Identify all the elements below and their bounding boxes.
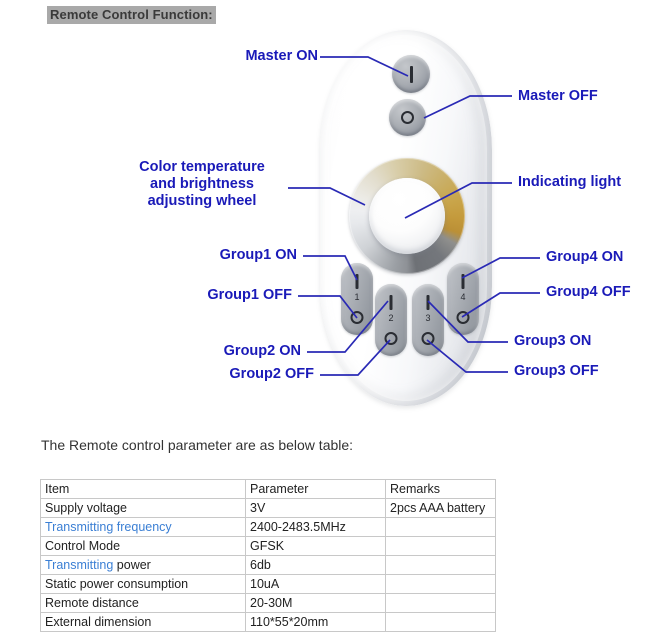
- table-intro-text: The Remote control parameter are as belo…: [41, 437, 353, 453]
- group4-off-glyph-icon: [457, 311, 470, 324]
- table-row: Supply voltage3V2pcs AAA battery: [41, 499, 496, 518]
- parameter-table: ItemParameterRemarksSupply voltage3V2pcs…: [40, 479, 496, 632]
- callout-group2-on: Group2 ON: [149, 343, 301, 360]
- table-cell-item: Control Mode: [41, 537, 246, 556]
- table-cell-item: Transmitting frequency: [41, 518, 246, 537]
- table-cell-remarks: [386, 518, 496, 537]
- color-temperature-brightness-wheel[interactable]: [349, 158, 465, 274]
- callout-group4-on: Group4 ON: [546, 249, 623, 266]
- callout-master-on: Master ON: [160, 48, 318, 65]
- callout-group3-on: Group3 ON: [514, 333, 591, 350]
- callout-master-off: Master OFF: [518, 88, 598, 105]
- callout-wheel-line-3: adjusting wheel: [148, 193, 257, 209]
- table-cell-parameter: 2400-2483.5MHz: [246, 518, 386, 537]
- group1-number-label: 1: [341, 292, 373, 302]
- table-cell-item: Transmitting power: [41, 556, 246, 575]
- group1-off-glyph-icon: [351, 311, 364, 324]
- master-off-glyph-icon: [401, 111, 414, 124]
- group-button-2[interactable]: 2: [375, 284, 407, 356]
- table-row: Transmitting power6db: [41, 556, 496, 575]
- callout-group3-off: Group3 OFF: [514, 363, 599, 380]
- callout-group2-off: Group2 OFF: [162, 366, 314, 383]
- remote-device-body: 1 2 3 4: [320, 30, 492, 406]
- table-cell-item-blue: Transmitting: [45, 558, 113, 572]
- table-header-row: ItemParameterRemarks: [41, 480, 496, 499]
- table-cell-item-plain: power: [113, 558, 151, 572]
- callout-wheel-line-1: Color temperature: [139, 159, 265, 175]
- table-cell-remarks: [386, 556, 496, 575]
- group3-on-glyph-icon: [427, 295, 430, 310]
- parameter-table-body: ItemParameterRemarksSupply voltage3V2pcs…: [41, 480, 496, 632]
- table-row: Static power consumption10uA: [41, 575, 496, 594]
- group-button-1[interactable]: 1: [341, 263, 373, 335]
- master-off-button[interactable]: [389, 99, 426, 136]
- table-cell-parameter: 3V: [246, 499, 386, 518]
- table-row: External dimension110*55*20mm: [41, 613, 496, 632]
- master-on-button[interactable]: [392, 55, 430, 93]
- table-header-cell: Remarks: [386, 480, 496, 499]
- table-cell-remarks: 2pcs AAA battery: [386, 499, 496, 518]
- group-button-4[interactable]: 4: [447, 263, 479, 335]
- group4-number-label: 4: [447, 292, 479, 302]
- table-cell-remarks: [386, 613, 496, 632]
- callout-adjusting-wheel: Color temperature and brightness adjusti…: [118, 159, 286, 210]
- group2-off-glyph-icon: [385, 332, 398, 345]
- indicating-light[interactable]: [369, 178, 445, 254]
- table-header-cell: Item: [41, 480, 246, 499]
- table-cell-item-blue: Transmitting frequency: [45, 520, 172, 534]
- remote-control-diagram: 1 2 3 4: [0, 0, 662, 420]
- callout-group1-off: Group1 OFF: [140, 287, 292, 304]
- table-cell-item: Static power consumption: [41, 575, 246, 594]
- group3-number-label: 3: [412, 313, 444, 323]
- table-cell-remarks: [386, 575, 496, 594]
- group1-on-glyph-icon: [356, 274, 359, 289]
- master-on-glyph-icon: [410, 66, 413, 83]
- table-cell-item: Remote distance: [41, 594, 246, 613]
- group2-number-label: 2: [375, 313, 407, 323]
- group2-on-glyph-icon: [390, 295, 393, 310]
- group3-off-glyph-icon: [422, 332, 435, 345]
- table-row: Transmitting frequency2400-2483.5MHz: [41, 518, 496, 537]
- callout-indicating-light: Indicating light: [518, 174, 621, 191]
- table-cell-parameter: 10uA: [246, 575, 386, 594]
- callout-group4-off: Group4 OFF: [546, 284, 631, 301]
- table-cell-parameter: 20-30M: [246, 594, 386, 613]
- table-cell-item: Supply voltage: [41, 499, 246, 518]
- table-cell-parameter: 110*55*20mm: [246, 613, 386, 632]
- callout-group1-on: Group1 ON: [145, 247, 297, 264]
- table-cell-remarks: [386, 594, 496, 613]
- table-cell-item: External dimension: [41, 613, 246, 632]
- table-header-cell: Parameter: [246, 480, 386, 499]
- group-button-3[interactable]: 3: [412, 284, 444, 356]
- table-cell-remarks: [386, 537, 496, 556]
- table-cell-parameter: GFSK: [246, 537, 386, 556]
- table-cell-parameter: 6db: [246, 556, 386, 575]
- table-row: Control ModeGFSK: [41, 537, 496, 556]
- group4-on-glyph-icon: [462, 274, 465, 289]
- table-row: Remote distance20-30M: [41, 594, 496, 613]
- callout-wheel-line-2: and brightness: [150, 176, 254, 192]
